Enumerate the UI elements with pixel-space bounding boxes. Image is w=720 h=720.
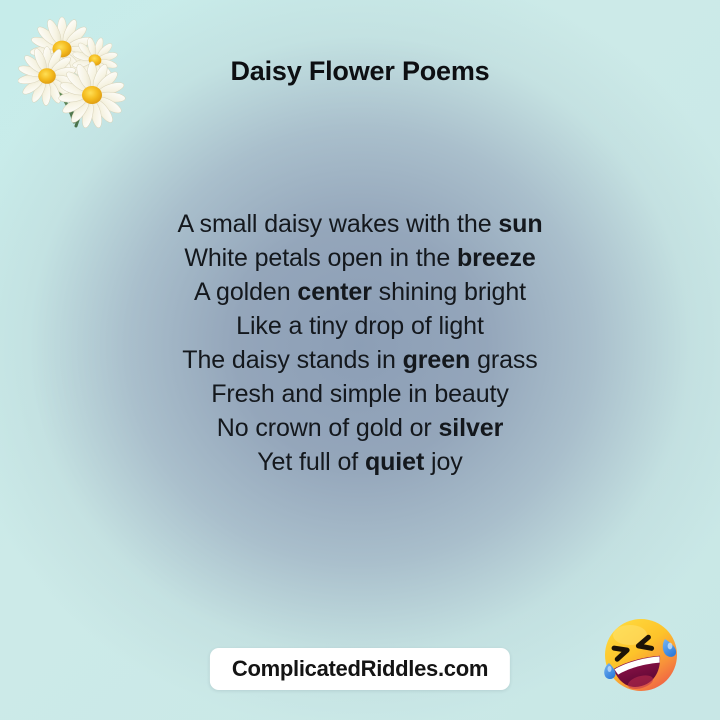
poem-text: grass: [470, 346, 537, 374]
poem-text: The daisy stands in: [182, 346, 402, 374]
poem-emphasis-word: quiet: [365, 448, 424, 476]
poem-emphasis-word: center: [297, 278, 371, 306]
poem-line: Like a tiny drop of light: [0, 309, 720, 343]
poem-line: A golden center shining bright: [0, 275, 720, 309]
poem-text: Fresh and simple in beauty: [211, 380, 509, 408]
poem-text: Like a tiny drop of light: [236, 312, 484, 340]
site-watermark-badge[interactable]: ComplicatedRiddles.com: [210, 648, 510, 690]
poem-emphasis-word: breeze: [457, 244, 536, 272]
poem-line: White petals open in the breeze: [0, 241, 720, 275]
site-watermark-label: ComplicatedRiddles.com: [232, 656, 488, 682]
poem-text: A golden: [194, 278, 297, 306]
poem-text: shining bright: [372, 278, 526, 306]
poem-emphasis-word: silver: [438, 414, 503, 442]
page-title: Daisy Flower Poems: [0, 56, 720, 87]
poem-body: A small daisy wakes with the sun White p…: [0, 207, 720, 479]
poem-line: The daisy stands in green grass: [0, 343, 720, 377]
poem-line: A small daisy wakes with the sun: [0, 207, 720, 241]
poem-poster: Daisy Flower Poems A small daisy wakes w…: [0, 0, 720, 720]
poem-emphasis-word: green: [403, 346, 471, 374]
rofl-emoji-icon: [597, 611, 685, 699]
poem-text: White petals open in the: [184, 244, 457, 272]
poem-line: Fresh and simple in beauty: [0, 377, 720, 411]
poem-text: joy: [424, 448, 463, 476]
poem-line: Yet full of quiet joy: [0, 445, 720, 479]
poem-text: No crown of gold or: [217, 414, 439, 442]
poem-emphasis-word: sun: [498, 210, 542, 238]
poem-text: Yet full of: [257, 448, 365, 476]
poem-line: No crown of gold or silver: [0, 411, 720, 445]
poem-text: A small daisy wakes with the: [178, 210, 499, 238]
